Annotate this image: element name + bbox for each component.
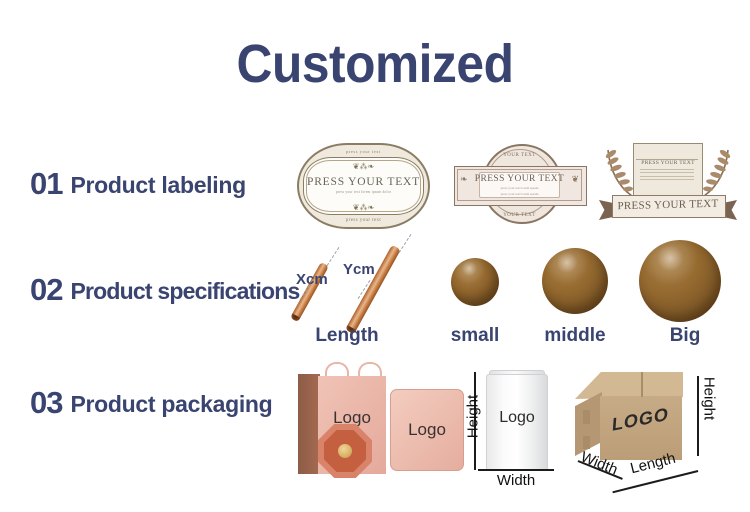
- crest-ribbon-text: PRESS YOUR TEXT: [612, 194, 724, 218]
- ball-caption-middle: middle: [525, 325, 625, 347]
- row-title-03: Product packaging: [70, 391, 272, 417]
- ball-caption-small: small: [425, 325, 525, 347]
- row-number-01: 01: [30, 166, 62, 201]
- sack-width-label: Width: [478, 472, 554, 489]
- row-label-product-labeling: 01Product labeling: [30, 166, 246, 202]
- row-title-02: Product specifications: [70, 278, 299, 304]
- customized-infographic: Customized 01Product labeling press your…: [0, 0, 750, 512]
- ball-caption-big: Big: [635, 325, 735, 347]
- carton-side-mark-upper: [583, 410, 590, 424]
- woven-sack-logo-text: Logo: [487, 409, 547, 427]
- circle-banner-label: YOUR TEXT YOUR TEXT PRESS YOUR TEXT pres…: [452, 142, 587, 230]
- sack-height-label: Height: [465, 387, 482, 447]
- plaque-bottom-text: press your text: [297, 218, 430, 223]
- row-number-03: 03: [30, 385, 62, 420]
- carton-top-flap-seam: [641, 372, 643, 397]
- banner-scroll-left-icon: ❧: [460, 174, 468, 185]
- octagon-box-medallion-icon: [338, 444, 352, 458]
- carton-length-dimension-line: [612, 470, 698, 493]
- crest-shield-divider: [636, 146, 698, 160]
- laurel-branch-left-icon: [602, 146, 636, 198]
- dimension-dash-y-upper: [399, 234, 412, 253]
- stick-x-dimension-label: Xcm: [296, 271, 328, 288]
- banner-sub-text: press your text lorem ipsum: [452, 186, 587, 190]
- laurel-branch-right-icon: [700, 146, 734, 198]
- row-title-01: Product labeling: [70, 172, 245, 198]
- carton-side-mark-lower: [583, 436, 590, 449]
- page-title: Customized: [30, 34, 720, 94]
- carton-height-dimension-line: [697, 376, 699, 456]
- ball-big: [639, 240, 721, 322]
- banner-main-text: PRESS YOUR TEXT: [452, 174, 587, 184]
- woven-sack: Logo: [486, 374, 548, 471]
- banner-bottom-text: YOUR TEXT: [452, 213, 587, 218]
- row-label-product-specifications: 02Product specifications: [30, 272, 300, 308]
- row-number-02: 02: [30, 272, 62, 307]
- row-label-product-packaging: 03Product packaging: [30, 385, 272, 421]
- sticks-caption-length: Length: [297, 325, 397, 347]
- crest-rule-lines: [640, 169, 694, 183]
- square-tin-box: Logo: [390, 389, 464, 471]
- crest-main-text: PRESS YOUR TEXT: [598, 160, 738, 166]
- stick-short-end: [290, 313, 300, 322]
- plaque-main-text: PRESS YOUR TEXT: [297, 176, 430, 188]
- dimension-dash-x-upper: [327, 247, 340, 266]
- laurel-crest-label: PRESS YOUR TEXT PRESS YOUR TEXT: [598, 140, 738, 232]
- banner-scroll-right-icon: ❦: [571, 174, 579, 185]
- banner-sub-text-2: press your text lorem ipsum: [452, 192, 587, 196]
- banner-top-text: YOUR TEXT: [452, 153, 587, 158]
- plaque-top-text: press your text: [297, 149, 430, 154]
- sack-width-dimension-line: [478, 469, 554, 471]
- ball-small: [451, 258, 499, 306]
- ornate-plaque-label: press your text PRESS YOUR TEXT press yo…: [297, 143, 430, 229]
- square-tin-logo-text: Logo: [391, 420, 463, 440]
- plaque-sub-text: press your text lorem ipsum dolor: [297, 190, 430, 194]
- gift-bag-side-panel: [298, 374, 320, 474]
- ball-middle: [542, 248, 608, 314]
- carton-height-label: Height: [701, 371, 718, 427]
- stick-long: [345, 245, 401, 335]
- carton-top-face: [575, 372, 683, 399]
- plaque-flourish-bottom-icon: ❦⁂❧: [297, 203, 430, 212]
- plaque-flourish-top-icon: ❦⁂❧: [297, 162, 430, 171]
- stick-y-dimension-label: Ycm: [343, 261, 375, 278]
